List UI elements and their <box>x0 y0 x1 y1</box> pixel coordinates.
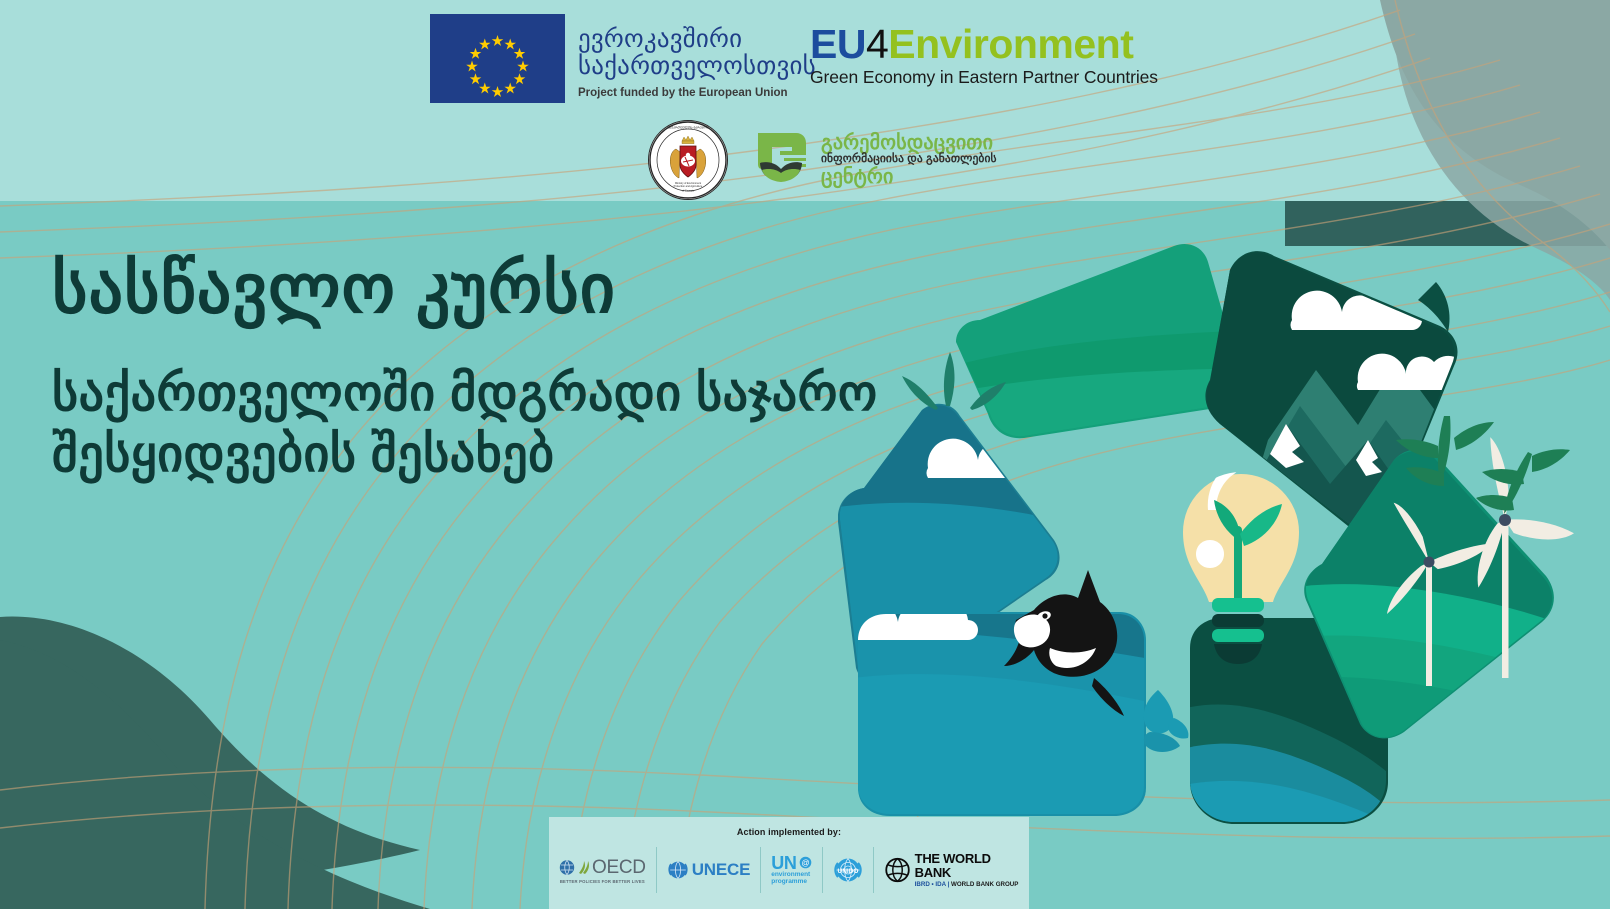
open-book-leaf-icon <box>750 129 812 191</box>
poster-canvas: ევროკავშირი საქართველოსთვის Project fund… <box>0 0 1610 909</box>
recycling-arrow-top <box>938 244 1258 450</box>
oecd-swoosh-icon <box>578 860 590 875</box>
eu4environment-tagline: Green Economy in Eastern Partner Countri… <box>810 67 1158 87</box>
eu-flag-icon <box>430 14 565 103</box>
footer-partner-strip: Action implemented by: OECD <box>549 817 1029 909</box>
eu4environment-wordmark: EU4Environment <box>810 22 1158 66</box>
page-title-block: სასწავლო კურსი საქართველოში მდგრადი საჯა… <box>52 255 952 485</box>
eu-emblem-text: ევროკავშირი საქართველოსთვის Project fund… <box>578 14 816 99</box>
center-line3: ცენტრი <box>821 167 997 187</box>
page-title: სასწავლო კურსი <box>52 255 952 323</box>
footer-label: Action implemented by: <box>549 817 1029 837</box>
center-line1: გარემოსდაცვითი <box>821 133 997 153</box>
un-at-icon: @ <box>799 856 812 869</box>
world-bank-globe-icon <box>884 855 911 885</box>
center-line2: ინფორმაციისა და განათლების <box>821 154 997 166</box>
oecd-tagline: BETTER POLICIES FOR BETTER LIVES <box>559 879 646 884</box>
partner-logo-unep: UN @ environment programme <box>760 847 821 893</box>
georgia-government-emblem-icon: ᲡᲐᲥᲐᲠᲗᲕᲔᲚᲝᲡ ᲒᲐᲠᲔᲛᲝᲡ Ministry of Environm… <box>648 120 728 200</box>
eu-emblem-block: ევროკავშირი საქართველოსთვის Project fund… <box>430 14 816 103</box>
eu-title-line1: ევროკავშირი <box>578 26 816 53</box>
eu4env-eu: EU <box>810 21 866 67</box>
education-center-text: გარემოსდაცვითი ინფორმაციისა და განათლები… <box>821 133 997 188</box>
partner-logo-worldbank: THE WORLD BANK IBRD • IDA | WORLD BANK G… <box>873 847 1029 893</box>
footer-logo-list: OECD BETTER POLICIES FOR BETTER LIVES UN… <box>549 843 1029 897</box>
unep-tagline-line2: programme <box>771 878 811 885</box>
svg-text:ᲡᲐᲥᲐᲠᲗᲕᲔᲚᲝᲡ ᲒᲐᲠᲔᲛᲝᲡ: ᲡᲐᲥᲐᲠᲗᲕᲔᲚᲝᲡ ᲒᲐᲠᲔᲛᲝᲡ <box>667 126 708 130</box>
worldbank-tagline-b: WORLD BANK GROUP <box>951 881 1018 888</box>
svg-text:Protection and Agriculture: Protection and Agriculture <box>674 185 703 188</box>
page-subtitle-line1: საქართველოში მდგრადი საჯარო <box>52 363 952 424</box>
page-subtitle: საქართველოში მდგრადი საჯარო შესყიდვების … <box>52 363 952 485</box>
partner-logo-unece: UNECE <box>656 847 761 893</box>
svg-text:of Georgia: of Georgia <box>682 190 694 193</box>
unece-wordmark: UNECE <box>692 860 751 880</box>
recycling-symbol-nature-illustration <box>838 210 1610 830</box>
eu4env-four: 4 <box>866 21 888 67</box>
water-droplets <box>1144 690 1189 752</box>
ocean-scene-lower <box>838 600 1168 830</box>
svg-text:UNIDO: UNIDO <box>837 868 858 875</box>
unep-tagline-line1: environment <box>771 871 811 878</box>
oecd-wordmark: OECD <box>592 857 646 879</box>
plant-branch-right <box>1476 449 1570 514</box>
header-logo-row-secondary: ᲡᲐᲥᲐᲠᲗᲕᲔᲚᲝᲡ ᲒᲐᲠᲔᲛᲝᲡ Ministry of Environm… <box>648 120 997 200</box>
worldbank-tagline-a: IBRD • IDA <box>915 881 946 888</box>
oecd-globe-icon <box>559 859 576 876</box>
worldbank-wordmark: THE WORLD BANK <box>915 852 1019 880</box>
partner-logo-oecd: OECD BETTER POLICIES FOR BETTER LIVES <box>549 847 656 893</box>
page-subtitle-line2: შესყიდვების შესახებ <box>52 424 952 485</box>
svg-text:@: @ <box>801 859 809 868</box>
unep-wordmark: UN <box>771 855 796 871</box>
partner-logo-unido: UNIDO <box>822 847 873 893</box>
eu4env-environment: Environment <box>888 21 1133 67</box>
unido-globe-icon: UNIDO <box>833 855 863 885</box>
environment-education-center-logo: გარემოსდაცვითი ინფორმაციისა და განათლები… <box>750 129 997 191</box>
header-logo-row-primary: ევროკავშირი საქართველოსთვის Project fund… <box>430 14 816 103</box>
eu-funding-note: Project funded by the European Union <box>578 87 816 99</box>
worldbank-tagline: IBRD • IDA | WORLD BANK GROUP <box>915 881 1019 888</box>
eu4environment-logo: EU4Environment Green Economy in Eastern … <box>810 22 1158 87</box>
un-wreath-icon <box>667 859 689 881</box>
eu-title-line2: საქართველოსთვის <box>578 53 816 80</box>
